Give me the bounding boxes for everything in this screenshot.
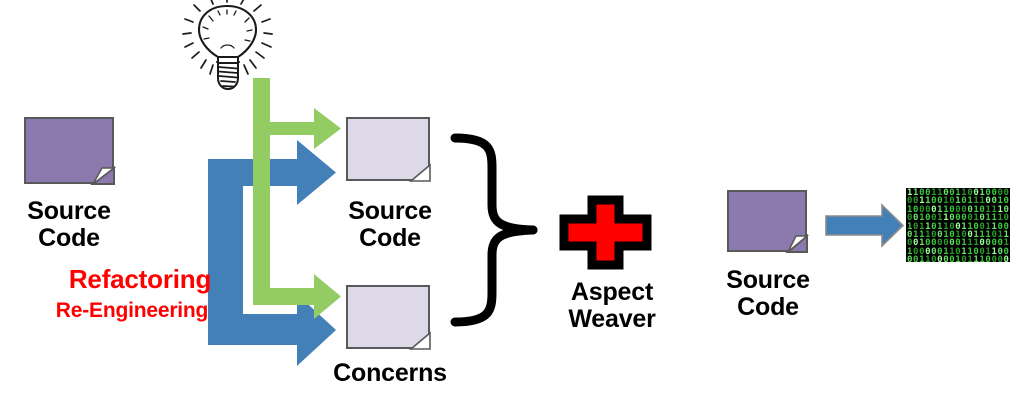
- document-fold-middle-bottom: [346, 285, 432, 351]
- curly-brace-icon: [455, 138, 533, 322]
- label-refactoring: Refactoring: [50, 266, 230, 294]
- document-fold-middle-top: [346, 117, 432, 183]
- document-fold-left: [24, 117, 116, 186]
- label-source-code-right: Source Code: [704, 267, 832, 320]
- blue-arrow-right-icon: [826, 205, 903, 246]
- label-concerns: Concerns: [318, 360, 462, 387]
- diagram-canvas: 1100110011001000000100110010101110010001…: [0, 0, 1028, 420]
- blue-split-arrow-icon: [112, 140, 336, 366]
- label-aspect-weaver: Aspect Weaver: [542, 279, 682, 332]
- label-source-code-middle: Source Code: [326, 198, 454, 251]
- red-plus-icon: [564, 200, 647, 265]
- document-fold-right: [727, 190, 809, 254]
- binary-code-block: 1100110011001000000100110010101110010001…: [906, 188, 1010, 262]
- label-re-engineering: Re-Engineering: [27, 300, 237, 322]
- lightbulb-icon: [183, 0, 272, 89]
- label-source-code-left: Source Code: [5, 198, 133, 251]
